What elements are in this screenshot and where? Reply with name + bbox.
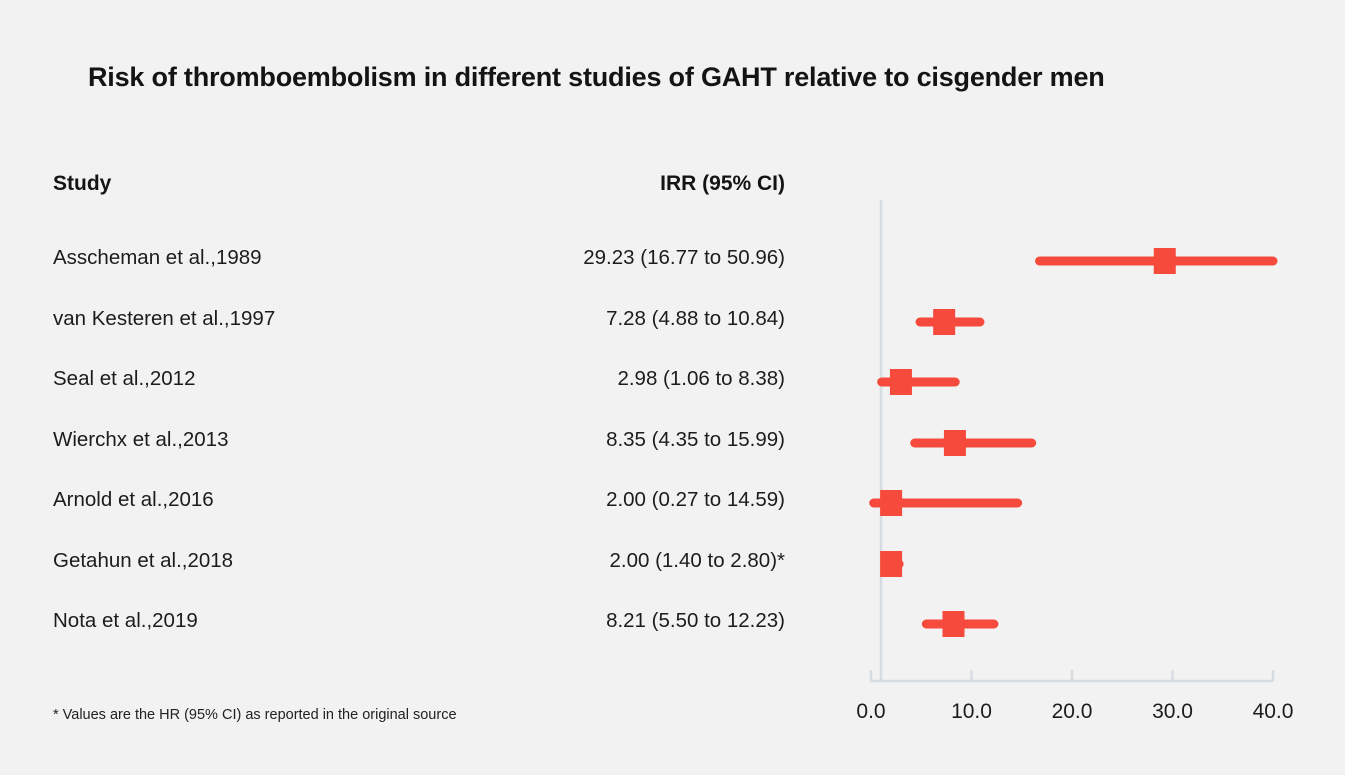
x-tick-label-4: 40.0 xyxy=(1233,700,1313,724)
forest-row-6 xyxy=(926,611,994,637)
forest-row-4 xyxy=(874,490,1018,516)
forest-row-1 xyxy=(920,309,980,335)
x-tick-label-3: 30.0 xyxy=(1133,700,1213,724)
point-estimate-marker xyxy=(944,430,966,456)
x-tick-label-0: 0.0 xyxy=(831,700,911,724)
forest-plot-panel: 0.010.020.030.040.0 xyxy=(0,0,1345,775)
point-estimate-marker xyxy=(933,309,955,335)
point-estimate-marker xyxy=(890,369,912,395)
forest-row-3 xyxy=(915,430,1032,456)
forest-row-2 xyxy=(882,369,956,395)
x-tick-label-1: 10.0 xyxy=(932,700,1012,724)
point-estimate-marker xyxy=(880,490,902,516)
forest-plot-svg xyxy=(0,0,1345,775)
plot-markers xyxy=(874,248,1273,637)
point-estimate-marker xyxy=(880,551,902,577)
x-tick-label-2: 20.0 xyxy=(1032,700,1112,724)
forest-row-5 xyxy=(880,551,902,577)
point-estimate-marker xyxy=(943,611,965,637)
forest-row-0 xyxy=(1040,248,1273,274)
forest-plot-page: Risk of thromboembolism in different stu… xyxy=(0,0,1345,775)
point-estimate-marker xyxy=(1154,248,1176,274)
